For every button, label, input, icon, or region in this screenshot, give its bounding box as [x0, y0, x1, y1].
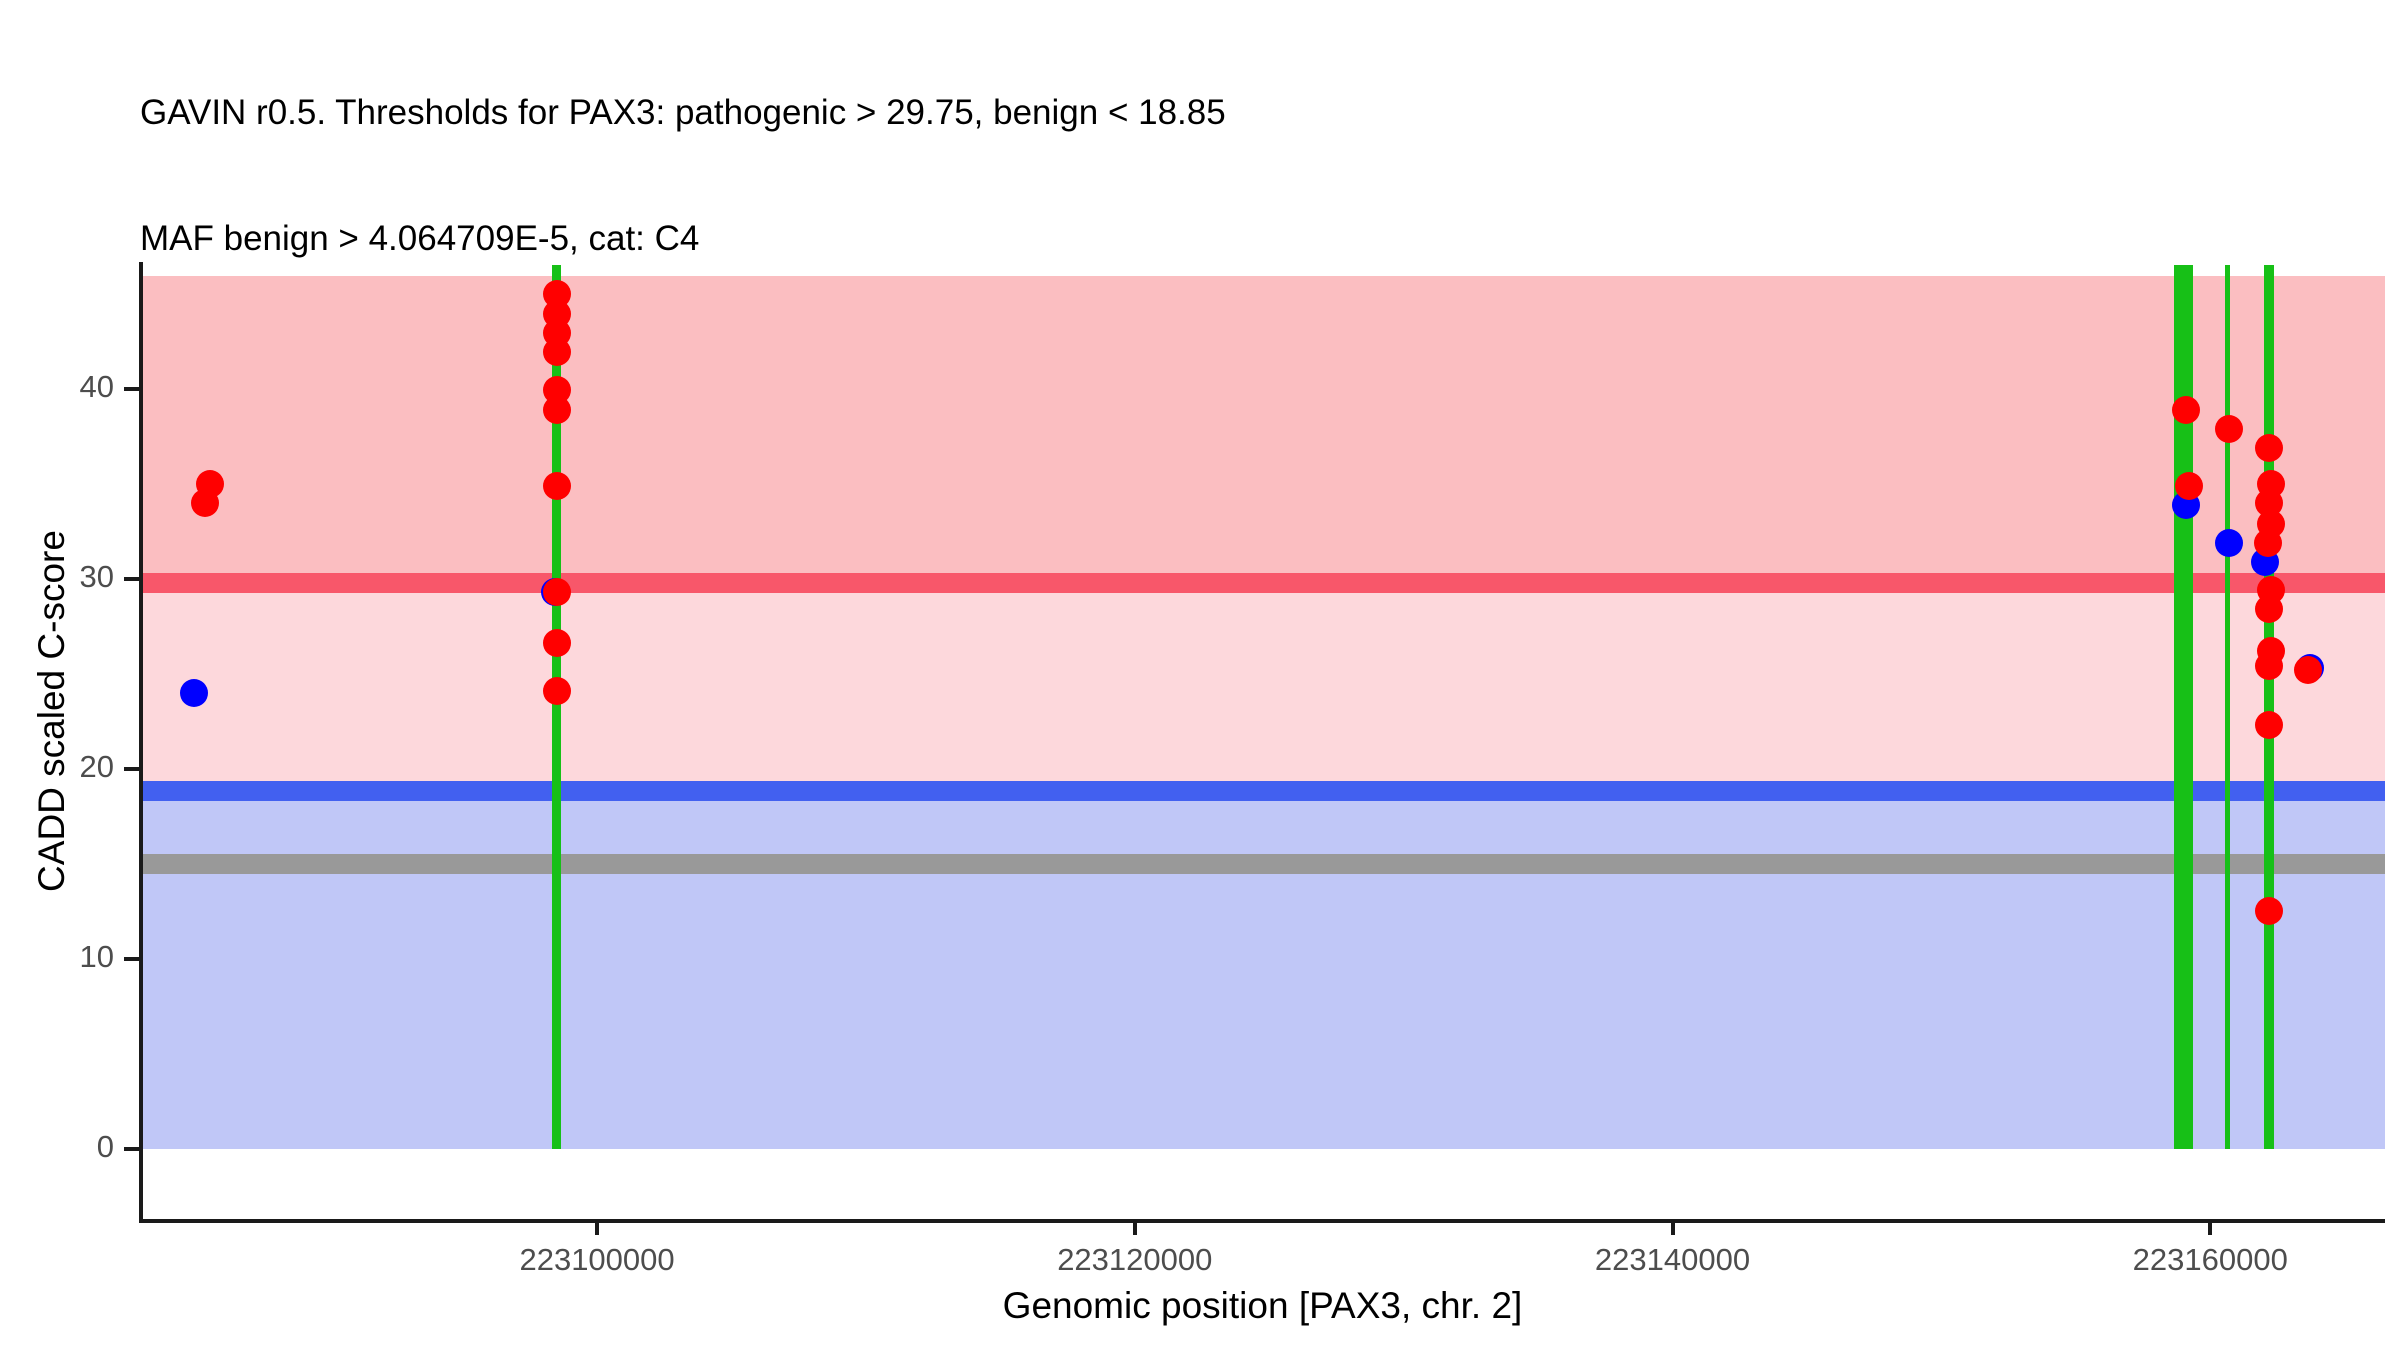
gavin-cadd-plot: GAVIN r0.5. Thresholds for PAX3: pathoge… — [0, 0, 2400, 1350]
threshold-line-genome-wide-fallback — [140, 854, 2385, 874]
band-benign-zone — [140, 791, 2385, 1149]
data-point — [2254, 529, 2282, 557]
plot-panel — [140, 265, 2385, 1172]
data-point — [2215, 415, 2243, 443]
data-point — [2175, 472, 2203, 500]
threshold-line-benign — [140, 781, 2385, 801]
band-pathogenic-zone — [140, 276, 2385, 583]
data-point — [543, 629, 571, 657]
y-tick-10 — [124, 957, 140, 961]
data-point — [2255, 434, 2283, 462]
exon-line-3 — [2225, 265, 2230, 1149]
data-point — [543, 677, 571, 705]
y-axis-line — [139, 262, 143, 1222]
x-tick-223140000 — [1671, 1219, 1675, 1235]
data-point — [543, 472, 571, 500]
title-line-2: MAF benign > 4.064709E-5, cat: C4 — [140, 218, 2240, 260]
x-tick-223120000 — [1133, 1219, 1137, 1235]
x-tick-label: 223100000 — [397, 1242, 797, 1278]
y-tick-30 — [124, 577, 140, 581]
x-tick-label: 223140000 — [1473, 1242, 1873, 1278]
x-tick-223160000 — [2208, 1219, 2212, 1235]
y-tick-label: 20 — [0, 749, 114, 785]
data-point — [543, 578, 571, 606]
x-axis-line — [139, 1219, 2385, 1223]
y-tick-label: 40 — [0, 369, 114, 405]
data-point — [2172, 396, 2200, 424]
x-tick-223100000 — [595, 1219, 599, 1235]
title-line-1: GAVIN r0.5. Thresholds for PAX3: pathoge… — [140, 92, 2240, 134]
y-axis-label: CADD scaled C-score — [31, 311, 73, 1111]
data-point — [180, 679, 208, 707]
threshold-line-pathogenic — [140, 573, 2385, 593]
y-tick-0 — [124, 1147, 140, 1151]
x-tick-label: 223120000 — [935, 1242, 1335, 1278]
x-axis-label: Genomic position [PAX3, chr. 2] — [140, 1285, 2385, 1327]
x-tick-label: 223160000 — [2010, 1242, 2400, 1278]
y-tick-label: 0 — [0, 1129, 114, 1165]
y-tick-20 — [124, 767, 140, 771]
exon-line-4 — [2264, 265, 2274, 1149]
data-point — [2215, 529, 2243, 557]
data-point — [543, 338, 571, 366]
data-point — [191, 489, 219, 517]
band-vous-zone — [140, 583, 2385, 790]
y-tick-40 — [124, 387, 140, 391]
y-tick-label: 30 — [0, 559, 114, 595]
data-point — [543, 396, 571, 424]
y-tick-label: 10 — [0, 939, 114, 975]
